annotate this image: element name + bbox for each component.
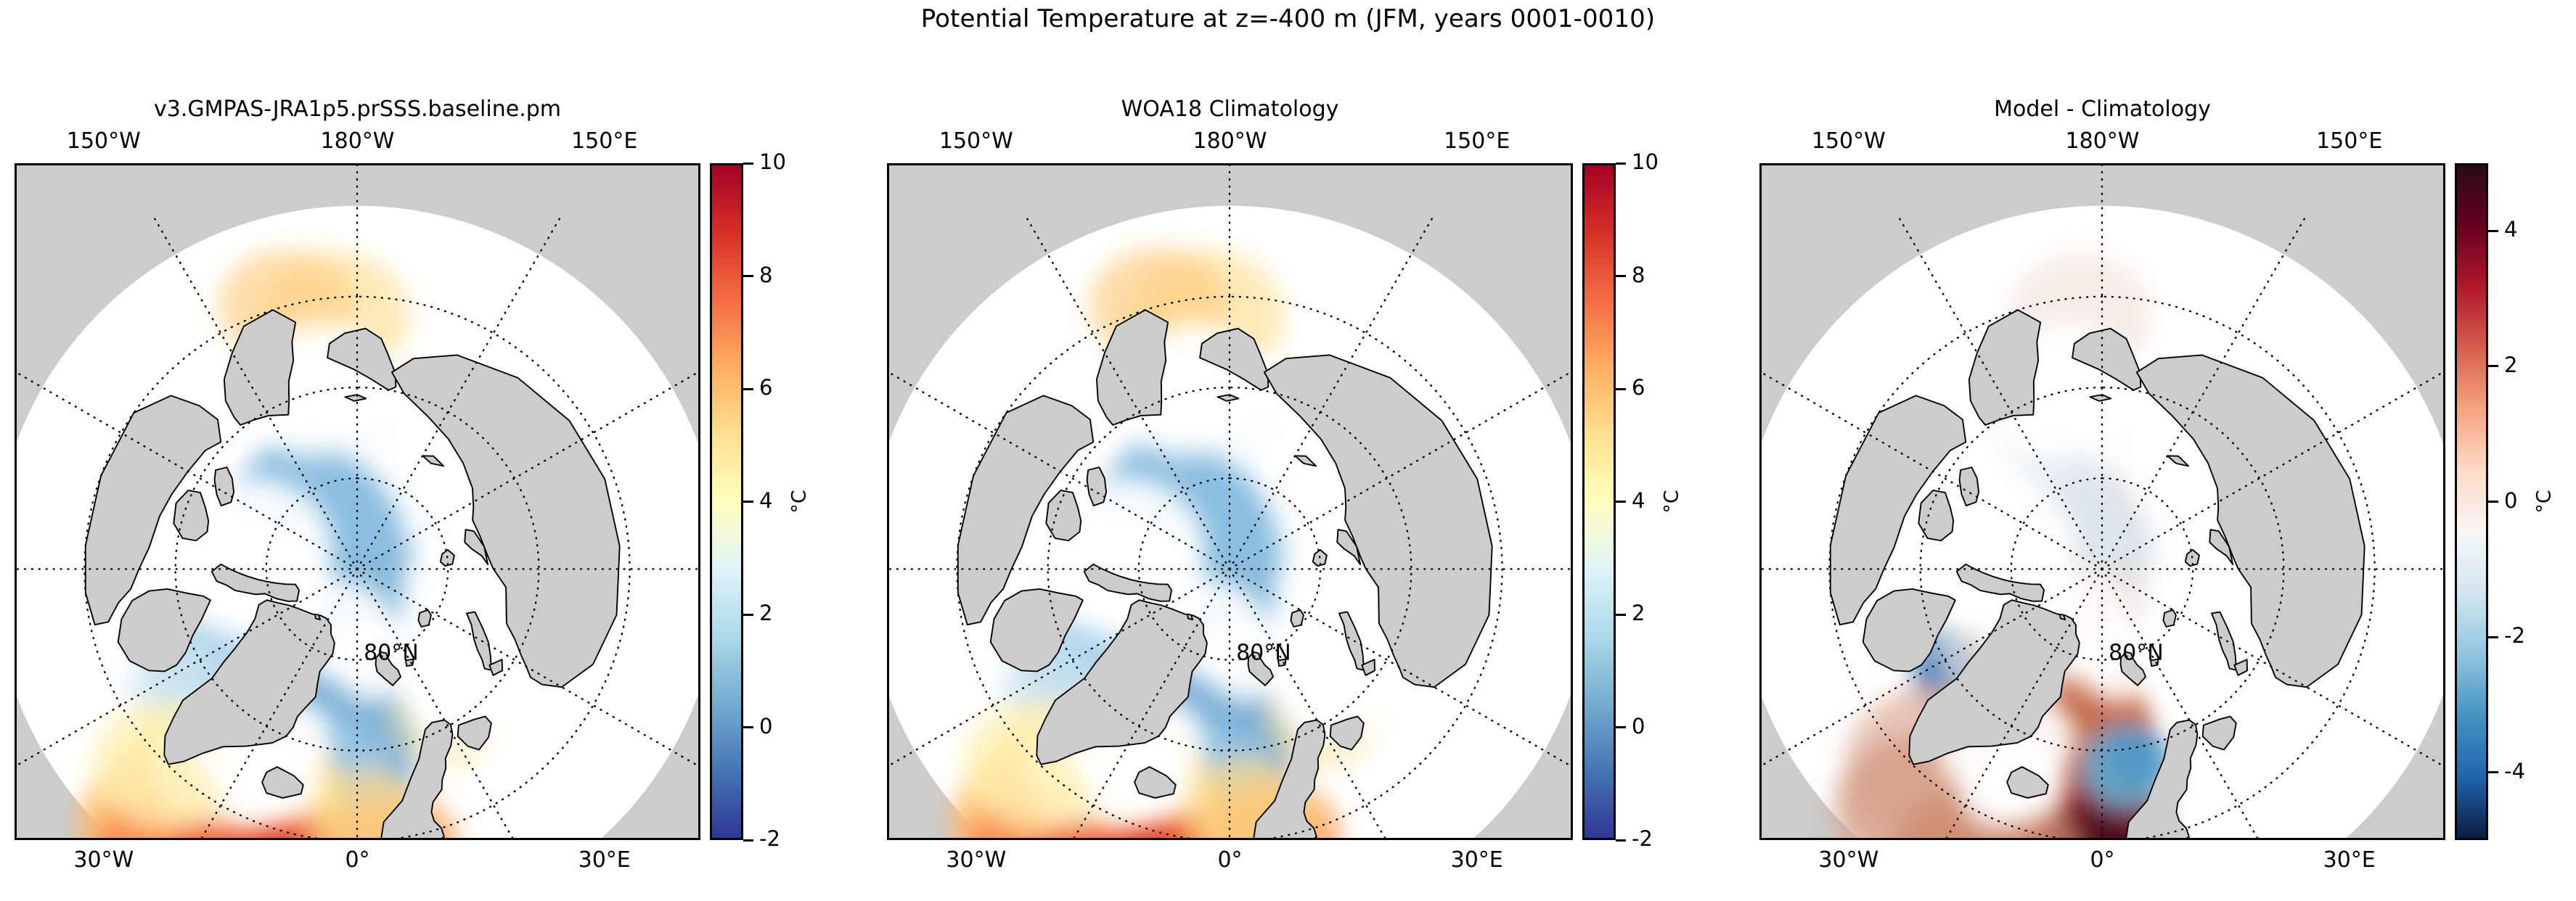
tick-label: 10 xyxy=(1632,149,1659,174)
lon-label-0: 0° xyxy=(345,847,369,873)
tick-label: 8 xyxy=(759,263,772,287)
tick-label: 4 xyxy=(2504,217,2517,242)
tick-mark xyxy=(743,388,753,390)
tick-label: 2 xyxy=(2504,353,2517,377)
tick-mark xyxy=(1616,501,1626,503)
tick-mark xyxy=(743,726,753,728)
tick-label: 8 xyxy=(1632,263,1645,287)
lon-ticks-bottom-difference: 30°W 0° 30°E xyxy=(1759,847,2445,881)
lon-label-150e: 150°E xyxy=(2316,128,2382,154)
lon-label-30e: 30°E xyxy=(578,847,631,873)
lon-ticks-top-difference: 150°W 180°W 150°E xyxy=(1759,128,2445,157)
colorbar-unit-label-model: °C xyxy=(788,490,811,513)
tick-label: -2 xyxy=(759,826,780,851)
tick-label: -2 xyxy=(2504,623,2525,648)
tick-label: 0 xyxy=(1632,714,1645,739)
tick-mark xyxy=(1616,726,1626,728)
lon-label-180w: 180°W xyxy=(1193,128,1267,154)
tick-label: 2 xyxy=(1632,601,1645,625)
lon-label-180w: 180°W xyxy=(2066,128,2140,154)
tick-label: 0 xyxy=(2504,488,2517,513)
colorbar-model[interactable] xyxy=(710,163,743,840)
landmass-svalbard2 xyxy=(1278,659,1286,667)
tick-mark xyxy=(1616,614,1626,616)
lon-label-150e: 150°E xyxy=(1444,128,1510,154)
lon-ticks-top-climatology: 150°W 180°W 150°E xyxy=(887,128,1573,157)
tick-label: -2 xyxy=(1632,826,1653,851)
panel-title-difference: Model - Climatology xyxy=(1759,96,2445,122)
lon-label-30w: 30°W xyxy=(73,847,134,873)
panel-title-model: v3.GMPAS-JRA1p5.prSSS.baseline.pm xyxy=(15,96,700,122)
lon-label-150w: 150°W xyxy=(67,128,141,154)
colorbar-unit-label-climatology: °C xyxy=(1661,490,1683,513)
map-panel-difference: Model - Climatology 150°W 180°W 150°E 80… xyxy=(1759,163,2445,840)
landmass-svalbard2 xyxy=(406,659,414,667)
tick-label: 0 xyxy=(759,714,772,739)
lon-ticks-bottom-model: 30°W 0° 30°E xyxy=(15,847,700,881)
lon-label-30e: 30°E xyxy=(1451,847,1503,873)
tick-mark xyxy=(743,839,753,842)
colorbar-difference[interactable] xyxy=(2455,163,2488,840)
tick-mark xyxy=(2488,771,2498,773)
landmass-svalbard2 xyxy=(2151,659,2159,667)
lon-label-30w: 30°W xyxy=(946,847,1006,873)
tick-label: 6 xyxy=(759,375,772,400)
tick-mark xyxy=(743,501,753,503)
tick-mark xyxy=(1616,839,1626,842)
tick-label: 2 xyxy=(759,601,772,625)
lon-label-0: 0° xyxy=(2090,847,2114,873)
tick-mark xyxy=(2488,230,2498,232)
tick-label: 4 xyxy=(1632,488,1645,513)
tick-mark xyxy=(2488,636,2498,638)
tick-label: 6 xyxy=(1632,375,1645,400)
colorbar-climatology[interactable] xyxy=(1582,163,1616,840)
map-panel-climatology: WOA18 Climatology 150°W 180°W 150°E 80°N… xyxy=(887,163,1573,840)
colorbar-ticks-model: 1086420-2 xyxy=(743,163,830,840)
lon-ticks-top-model: 150°W 180°W 150°E xyxy=(15,128,700,157)
figure-canvas: Potential Temperature at z=-400 m (JFM, … xyxy=(0,0,2576,901)
lon-label-0: 0° xyxy=(1217,847,1242,873)
tick-label: 4 xyxy=(759,488,772,513)
map-canvas-model[interactable]: 80°N xyxy=(15,163,700,840)
lon-label-150w: 150°W xyxy=(1812,128,1886,154)
colorbar-unit-label-difference: °C xyxy=(2533,490,2556,513)
tick-mark xyxy=(2488,365,2498,367)
map-canvas-difference[interactable]: 80°N xyxy=(1759,163,2445,840)
lon-label-150w: 150°W xyxy=(939,128,1013,154)
lon-label-180w: 180°W xyxy=(321,128,395,154)
tick-mark xyxy=(1616,162,1626,165)
colorbar-ticks-climatology: 1086420-2 xyxy=(1616,163,1703,840)
panel-title-climatology: WOA18 Climatology xyxy=(887,96,1573,122)
tick-mark xyxy=(2488,501,2498,503)
figure-suptitle: Potential Temperature at z=-400 m (JFM, … xyxy=(0,4,2576,33)
lon-ticks-bottom-climatology: 30°W 0° 30°E xyxy=(887,847,1573,881)
lon-label-30w: 30°W xyxy=(1818,847,1878,873)
tick-label: 10 xyxy=(759,149,786,174)
tick-mark xyxy=(1616,275,1626,277)
map-panel-model: v3.GMPAS-JRA1p5.prSSS.baseline.pm 150°W … xyxy=(15,163,700,840)
tick-mark xyxy=(1616,388,1626,390)
tick-label: -4 xyxy=(2504,759,2525,783)
tick-mark xyxy=(743,162,753,165)
lon-label-150e: 150°E xyxy=(571,128,637,154)
map-canvas-climatology[interactable]: 80°N xyxy=(887,163,1573,840)
tick-mark xyxy=(743,614,753,616)
lon-label-30e: 30°E xyxy=(2323,847,2376,873)
colorbar-ticks-difference: 420-2-4 xyxy=(2488,163,2575,840)
tick-mark xyxy=(743,275,753,277)
